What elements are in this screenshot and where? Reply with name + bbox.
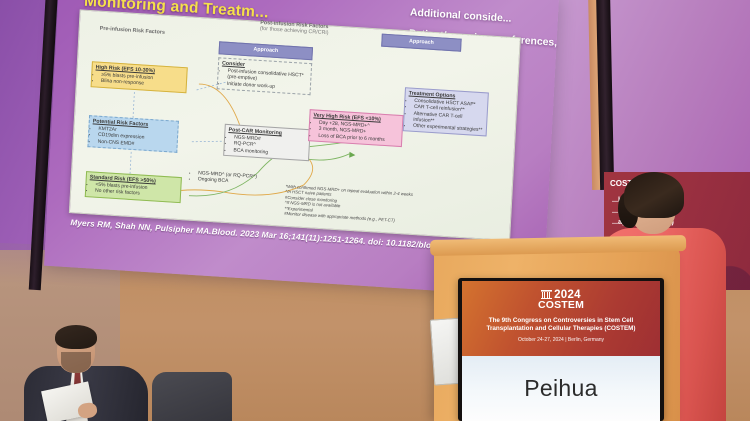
moderator-hair xyxy=(55,325,97,349)
podium-congress-line: The 9th Congress on Controversies in Ste… xyxy=(462,317,660,334)
conference-room-photo: Appro... Monitoring and Treatm... Additi… xyxy=(0,0,750,421)
node-post-car-monitoring: Post-CAR Monitoring NGS-MRD# RQ-PCR^ BCA… xyxy=(223,124,311,161)
podium-display-header: 2024 COSTEM The 9th Congress on Controve… xyxy=(462,281,660,356)
node-consider: Consider Post-infusion consolidative HSC… xyxy=(217,57,313,95)
flowchart: Pre-infusion Risk Factors Post-infusion … xyxy=(70,10,520,240)
node-potential-risk-factors: Potential Risk Factors KMT2Ar CD19dim ex… xyxy=(87,115,179,152)
moderator-beard xyxy=(61,352,91,373)
chair xyxy=(152,372,232,421)
speaker-hair xyxy=(624,172,684,218)
podium-logo-name: COSTEM xyxy=(462,300,660,310)
flowchart-panel: Pre-infusion Risk Factors Post-infusion … xyxy=(69,9,521,241)
node-treatment-options-items: Consolidative HSCT ASAP* CAR T-cell rein… xyxy=(407,98,485,134)
brandenburg-gate-icon xyxy=(541,290,552,299)
node-potential-risk-items: KMT2Ar CD19dim expression Non-CNS EMD# xyxy=(92,126,175,150)
node-very-high-risk: Very High Risk (EFS <10%) Day +28, NGS-M… xyxy=(308,109,404,147)
speaker-name: Peihua xyxy=(524,375,597,402)
node-treatment-options: Treatment Options Consolidative HSCT ASA… xyxy=(403,87,489,137)
podium-display-nameplate: Peihua xyxy=(462,356,660,421)
podium-date-location: October 24-27, 2024 | Berlin, Germany xyxy=(462,336,660,344)
podium-display: 2024 COSTEM The 9th Congress on Controve… xyxy=(462,281,660,421)
podium-logo: 2024 xyxy=(462,281,660,301)
node-post-car-items: NGS-MRD# RQ-PCR^ BCA monitoring xyxy=(227,134,306,158)
